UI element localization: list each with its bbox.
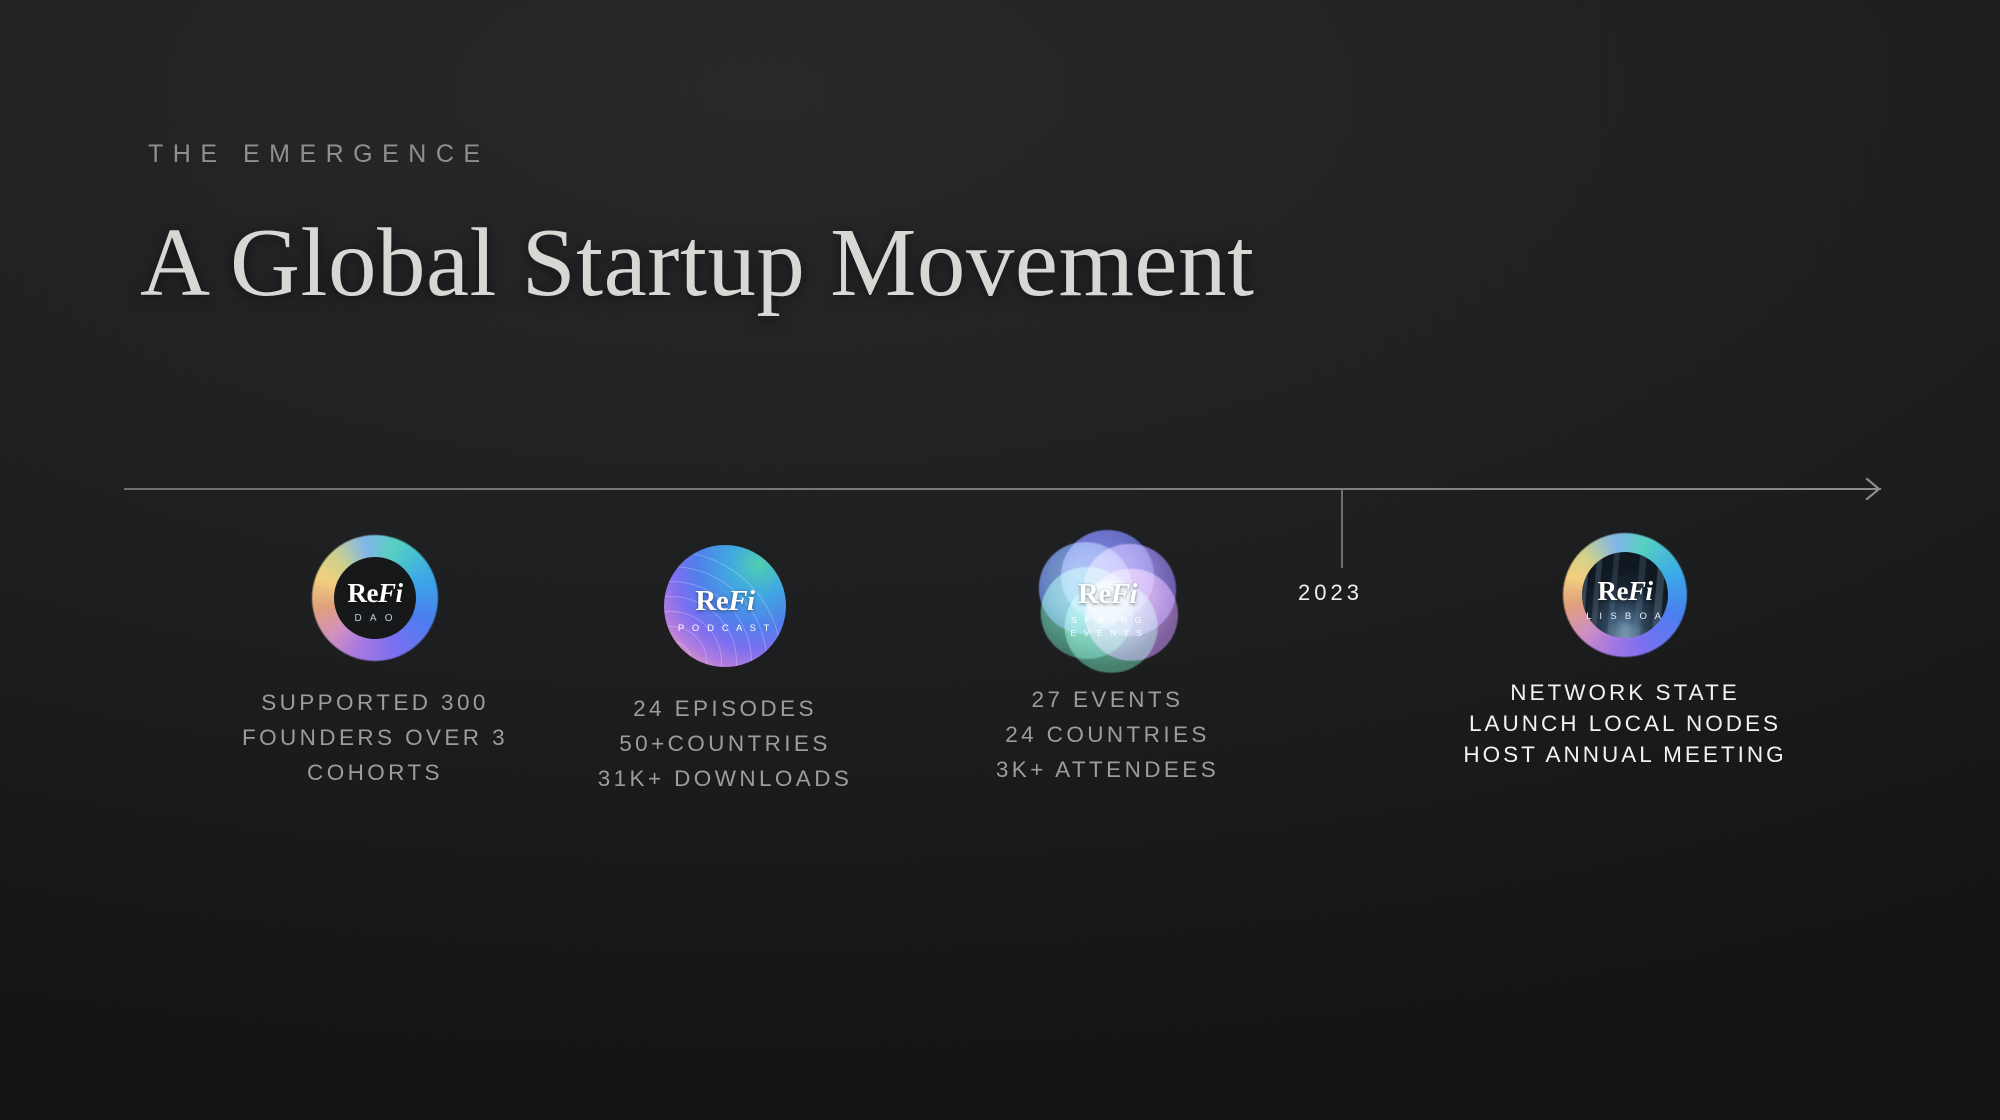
caption-line: HOST ANNUAL MEETING — [1430, 739, 1820, 770]
wordmark-fi: Fi — [1628, 576, 1653, 606]
caption-line: LAUNCH LOCAL NODES — [1430, 708, 1820, 739]
caption-line: 27 EVENTS — [910, 682, 1305, 717]
slide-canvas: THE EMERGENCE A Global Startup Movement … — [0, 0, 2000, 1120]
milestone-refi-spring-events[interactable]: ReFi S P R I N G E V E N T S 27 EVENTS 2… — [910, 530, 1305, 787]
badge-subtitle: L I S B O A — [1563, 611, 1687, 622]
eyebrow-label: THE EMERGENCE — [148, 140, 490, 169]
milestone-refi-lisboa[interactable]: ReFi L I S B O A NETWORK STATE LAUNCH LO… — [1430, 533, 1820, 770]
wordmark-re: Re — [695, 585, 728, 617]
badge-wordmark: ReFi P O D C A S T — [664, 587, 786, 634]
refi-podcast-logo-icon: ReFi P O D C A S T — [664, 545, 786, 667]
timeline-axis — [124, 488, 1881, 490]
milestone-refi-dao[interactable]: ReFi D A O SUPPORTED 300 FOUNDERS OVER 3… — [180, 535, 570, 790]
milestone-caption: SUPPORTED 300 FOUNDERS OVER 3 COHORTS — [180, 685, 570, 790]
refi-lisboa-logo-icon: ReFi L I S B O A — [1563, 533, 1687, 657]
milestone-caption: 27 EVENTS 24 COUNTRIES 3K+ ATTENDEES — [910, 682, 1305, 787]
caption-line: 31K+ DOWNLOADS — [535, 761, 915, 796]
milestone-caption: 24 EPISODES 50+COUNTRIES 31K+ DOWNLOADS — [535, 691, 915, 796]
wordmark-fi: Fi — [728, 585, 754, 617]
page-title: A Global Startup Movement — [140, 212, 1254, 314]
caption-line: FOUNDERS OVER 3 — [180, 720, 570, 755]
badge-subtitle: D A O — [312, 613, 438, 624]
badge-wordmark: ReFi S P R I N G E V E N T S — [1038, 580, 1178, 638]
timeline-year-label: 2023 — [1298, 580, 1363, 606]
wordmark-re: Re — [1598, 576, 1628, 606]
refi-spring-events-logo-icon: ReFi S P R I N G E V E N T S — [1038, 530, 1178, 670]
badge-subtitle-second: E V E N T S — [1038, 628, 1178, 638]
badge-wordmark: ReFi L I S B O A — [1563, 578, 1687, 622]
caption-line: COHORTS — [180, 755, 570, 790]
caption-line: 24 EPISODES — [535, 691, 915, 726]
caption-line: SUPPORTED 300 — [180, 685, 570, 720]
wordmark-re: Re — [348, 578, 378, 608]
refi-dao-logo-icon: ReFi D A O — [312, 535, 438, 661]
badge-wordmark: ReFi D A O — [312, 580, 438, 624]
caption-line: 50+COUNTRIES — [535, 726, 915, 761]
wordmark-fi: Fi — [378, 578, 403, 608]
caption-line: 3K+ ATTENDEES — [910, 752, 1305, 787]
badge-subtitle: S P R I N G — [1038, 615, 1178, 625]
wordmark-fi: Fi — [1111, 578, 1137, 610]
wordmark-re: Re — [1078, 578, 1111, 610]
caption-line: NETWORK STATE — [1430, 677, 1820, 708]
milestone-caption: NETWORK STATE LAUNCH LOCAL NODES HOST AN… — [1430, 677, 1820, 770]
tick-mark-icon — [1341, 489, 1343, 568]
milestone-refi-podcast[interactable]: ReFi P O D C A S T 24 EPISODES 50+COUNTR… — [535, 545, 915, 796]
caption-line: 24 COUNTRIES — [910, 717, 1305, 752]
arrow-right-icon — [1863, 477, 1887, 501]
badge-subtitle: P O D C A S T — [664, 623, 786, 634]
